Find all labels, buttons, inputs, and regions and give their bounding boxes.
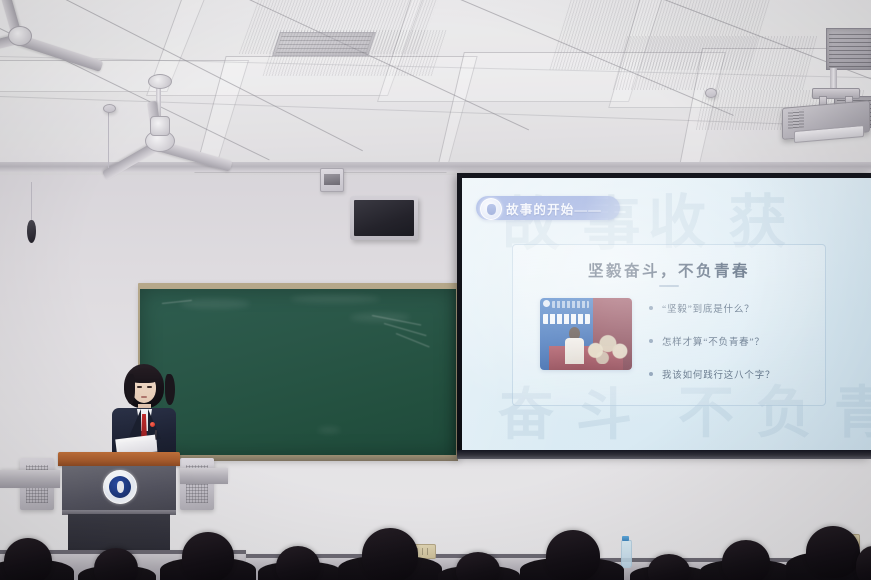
university-crest-icon [103,470,137,504]
ac-vent [826,28,871,70]
title-underline [659,285,679,287]
lectern-surface [58,452,180,466]
wall-control-box[interactable] [320,168,344,192]
bullet-label: 怎样才算“不负青春”？ [662,334,765,348]
projection-screen-bottom-bar [457,450,871,459]
lectern [58,452,180,514]
lapel-badge [150,422,155,427]
slide-header-text: 故事的开始—— [506,199,602,218]
university-emblem-icon [480,198,502,220]
audience-head [4,538,52,580]
audience-head [362,528,418,580]
ceiling-wire [108,110,109,168]
list-item: “坚毅”到底是什么？ [649,301,817,315]
bullet-label: “坚毅”到底是什么？ [662,301,754,315]
list-item: 我该如何践行这八个字？ [649,367,817,381]
ac-vent [272,32,376,56]
audience-head [456,552,500,580]
slide-embedded-photo [540,298,632,370]
bottle-cap [622,536,629,541]
audience-head [722,540,770,580]
hanging-microphone [27,220,36,243]
ceiling-projector [772,72,870,142]
water-bottle [621,540,632,568]
lecture-hall-photo: 故 事 收 获 奋 斗 不 负 青 故事的开始—— 坚毅奋斗，不负青春 [0,0,871,580]
audience-head [182,532,234,580]
audience-head [806,526,860,578]
slide-content-box: 坚毅奋斗，不负青春 “坚毅”到底是什么？ [512,244,826,406]
slide-bullet-list: “坚毅”到底是什么？ 怎样才算“不负青春”？ 我该如何践行这八个字？ [649,301,817,400]
list-item: 怎样才算“不负青春”？ [649,334,817,348]
audience-head [648,554,690,580]
bullet-dot-icon [649,306,653,310]
audience-head [546,530,600,580]
ceiling-fan [110,78,270,168]
slide-header-pill: 故事的开始—— [476,196,620,220]
audience-head [94,548,138,580]
bullet-dot-icon [649,339,653,343]
wall-mounted-monitor[interactable] [350,196,418,240]
projection-screen[interactable]: 故 事 收 获 奋 斗 不 负 青 故事的开始—— 坚毅奋斗，不负青春 [462,178,871,450]
ceiling-fan [0,8,120,88]
green-chalkboard [140,289,456,457]
wall-bracket [103,104,116,113]
monitor-screen [354,200,414,236]
slide-title: 坚毅奋斗，不负青春 [513,259,825,281]
stage-platform [0,470,60,488]
hanging-mic-cable [31,182,32,224]
bullet-dot-icon [649,372,653,376]
ceiling-sensor [705,88,717,98]
stage-platform [180,468,228,484]
bullet-label: 我该如何践行这八个字？ [662,367,775,381]
audience-head [276,546,320,580]
